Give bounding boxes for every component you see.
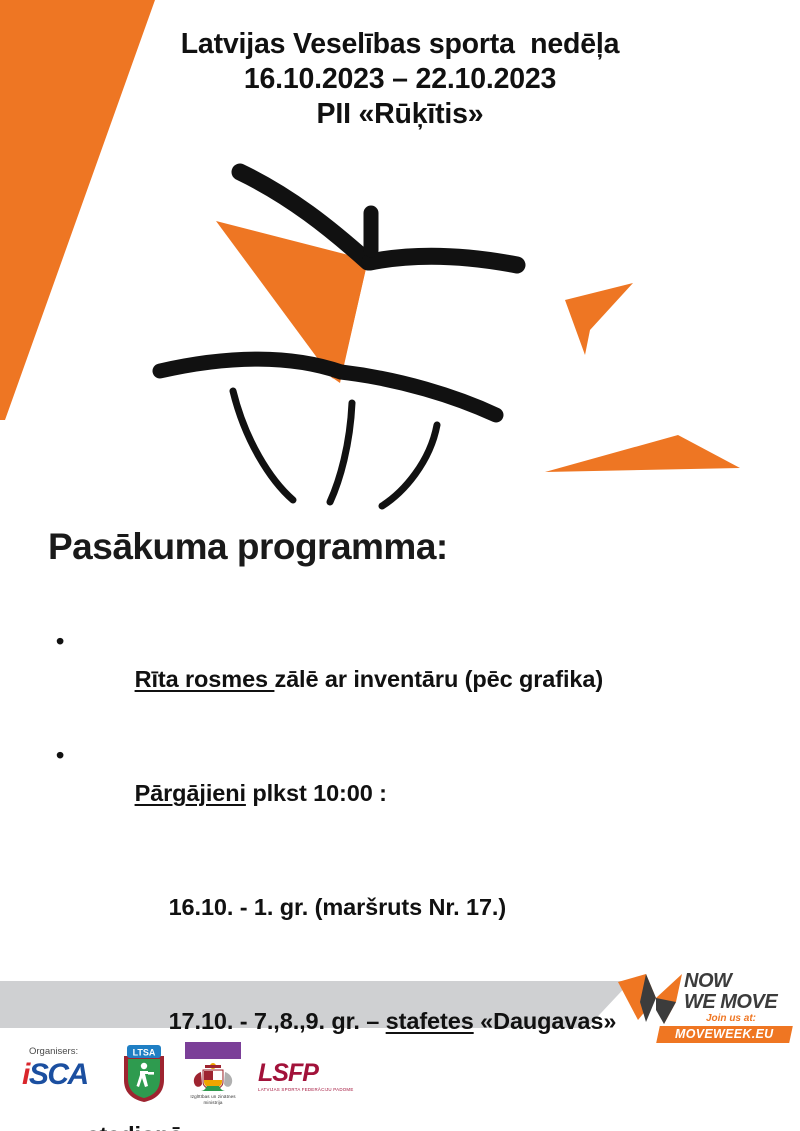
- title-line-2: 16.10.2023 – 22.10.2023: [0, 62, 800, 97]
- bullet-icon: •: [56, 622, 76, 660]
- join-us-label: Join us at:: [671, 1013, 791, 1024]
- svg-text:LTSA: LTSA: [133, 1048, 156, 1058]
- ltsa-shield-icon: LTSA: [118, 1042, 170, 1104]
- poster-title: Latvijas Veselības sporta nedēļa 16.10.2…: [0, 27, 800, 132]
- arm-upper-left: [240, 172, 368, 262]
- title-line-3: PII «Rūķītis»: [0, 97, 800, 132]
- lsfp-logo[interactable]: LSFP LATVIJAS SPORTA FEDERĀCIJU PADOME: [258, 1060, 358, 1092]
- list-item: •Pārgājieni plkst 10:00 :: [48, 736, 778, 850]
- schedule-1-underlined: stafetes: [386, 1008, 474, 1034]
- ministry-caption: Izglītības un zinātnes ministrija: [180, 1094, 246, 1106]
- ministry-of-education-logo[interactable]: Izglītības un zinātnes ministrija: [180, 1042, 246, 1106]
- poster-canvas: Latvijas Veselības sporta nedēļa 16.10.2…: [0, 0, 800, 1131]
- latvia-coat-of-arms-icon: [185, 1060, 241, 1092]
- schedule-line: 16.10. - 1. gr. (maršruts Nr. 17.): [48, 850, 778, 964]
- leg-stroke-middle: [330, 403, 352, 502]
- ministry-caption-line-2: ministrija: [180, 1100, 246, 1106]
- footer-logo-strip: Organisers: iSCA LTSA: [0, 1036, 800, 1131]
- isca-sca-letters: SCA: [29, 1058, 88, 1091]
- bullet-0-rest: zālē ar inventāru (pēc grafika): [274, 666, 603, 692]
- arm-upper-right: [370, 256, 517, 265]
- arm-lower-left: [160, 359, 341, 372]
- programme-heading: Pasākuma programma:: [48, 524, 448, 570]
- isca-i-letter: i: [22, 1058, 29, 1091]
- bullet-icon: •: [56, 736, 76, 774]
- leg-stroke-left: [233, 391, 293, 500]
- torso-triangle: [216, 221, 368, 381]
- ministry-purple-bar: [185, 1042, 241, 1059]
- leg-stroke-right: [382, 425, 437, 506]
- athlete-figure: [160, 172, 517, 506]
- nwm-line-2: WE MOVE: [684, 992, 777, 1013]
- ltsa-logo[interactable]: LTSA: [118, 1042, 170, 1109]
- schedule-0-before: 16.10. - 1. gr. (maršruts Nr. 17.): [169, 894, 507, 920]
- orange-accent-sliver: [545, 435, 740, 472]
- isca-logo[interactable]: iSCA: [22, 1059, 88, 1091]
- bullet-0-underlined: Rīta rosmes: [135, 666, 275, 692]
- organisers-label: Organisers:: [29, 1046, 78, 1057]
- nwm-line-1: NOW: [684, 971, 777, 992]
- arm-lower-right: [341, 372, 496, 415]
- list-item: •Rīta rosmes zālē ar inventāru (pēc graf…: [48, 622, 778, 736]
- schedule-1-after: «Daugavas»: [474, 1008, 617, 1034]
- orange-accent-arrow: [565, 283, 633, 355]
- lsfp-wordmark: LSFP: [258, 1060, 358, 1086]
- now-we-move-wordmark: NOW WE MOVE: [684, 971, 777, 1012]
- torso-triangle-lower: [318, 259, 368, 383]
- title-line-1: Latvijas Veselības sporta nedēļa: [0, 27, 800, 62]
- bullet-1-rest: plkst 10:00 :: [246, 780, 387, 806]
- schedule-1-before: 17.10. - 7.,8.,9. gr. –: [169, 1008, 386, 1034]
- bullet-1-underlined: Pārgājieni: [135, 780, 246, 806]
- lsfp-caption: LATVIJAS SPORTA FEDERĀCIJU PADOME: [258, 1087, 358, 1092]
